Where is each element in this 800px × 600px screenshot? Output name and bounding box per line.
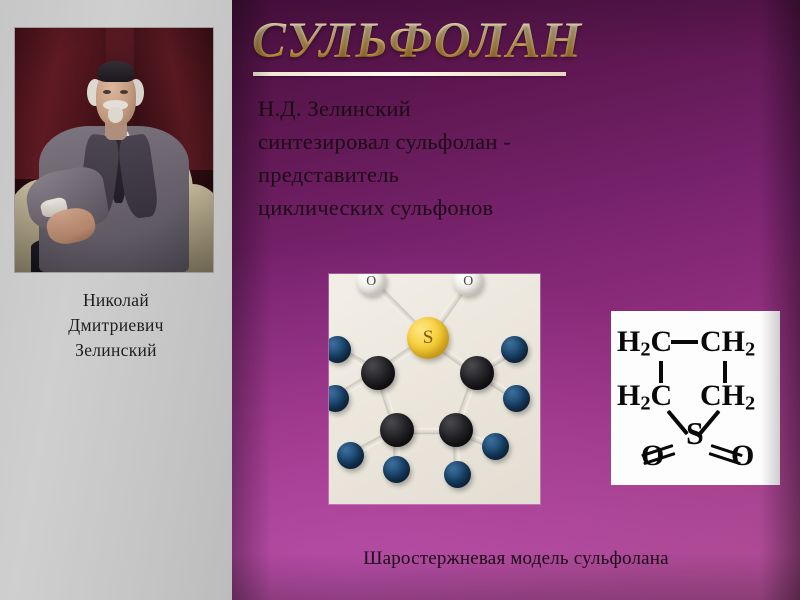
formula-oxygen-right-label: O — [731, 439, 754, 473]
model-atom-c — [460, 356, 494, 390]
slide: Николай Дмитриевич Зелинский СУЛЬФОЛАН Н… — [0, 0, 800, 600]
body-line-4: циклических сульфонов — [258, 191, 678, 224]
model-atom-s: S — [407, 317, 449, 359]
model-atom-label: S — [407, 327, 449, 349]
formula-top-right-label: CH2 — [700, 325, 755, 361]
formula-bottom-right-label: CH2 — [700, 379, 755, 415]
portrait-image — [15, 28, 213, 272]
model-atom-h — [482, 433, 509, 460]
title-underline — [253, 72, 566, 76]
model-atom-h — [503, 385, 530, 412]
portrait-frame — [15, 28, 213, 272]
formula-bond-c-c-top — [671, 340, 698, 344]
model-atom-label: O — [356, 274, 386, 289]
portrait-caption: Николай Дмитриевич Зелинский — [8, 288, 224, 363]
model-atom-c — [439, 413, 473, 447]
body-text: Н.Д. Зелинский синтезировал сульфолан - … — [258, 92, 678, 224]
ball-and-stick-model-image: SOO — [329, 274, 540, 504]
model-atom-label: O — [453, 274, 483, 289]
model-atom-h — [337, 442, 364, 469]
formula-bond-left-vertical — [659, 361, 663, 383]
formula-bottom-left-label: H2C — [617, 379, 672, 415]
model-atom-h — [329, 336, 351, 363]
model-atom-h — [501, 336, 528, 363]
body-line-1: Н.Д. Зелинский — [258, 92, 678, 125]
model-atom-h — [383, 456, 410, 483]
sidebar-panel: Николай Дмитриевич Зелинский — [0, 0, 232, 600]
model-atom-c — [380, 413, 414, 447]
formula-top-left-label: H2C — [617, 325, 672, 361]
portrait-caption-line-1: Николай — [8, 288, 224, 313]
body-line-3: представитель — [258, 158, 678, 191]
portrait-vignette — [15, 28, 213, 272]
body-line-2: синтезировал сульфолан - — [258, 125, 678, 158]
model-atom-c — [361, 356, 395, 390]
model-caption: Шаростержневая модель сульфолана — [286, 548, 746, 570]
content-panel: СУЛЬФОЛАН Н.Д. Зелинский синтезировал су… — [232, 0, 800, 600]
structural-formula-image: H2C CH2 H2C CH2 S O O — [611, 311, 780, 485]
portrait-caption-line-2: Дмитриевич — [8, 313, 224, 338]
page-title: СУЛЬФОЛАН — [252, 12, 592, 70]
portrait-caption-line-3: Зелинский — [8, 338, 224, 363]
formula-bond-right-vertical — [723, 361, 727, 383]
model-atom-o: O — [453, 274, 483, 296]
model-atom-h — [444, 461, 471, 488]
